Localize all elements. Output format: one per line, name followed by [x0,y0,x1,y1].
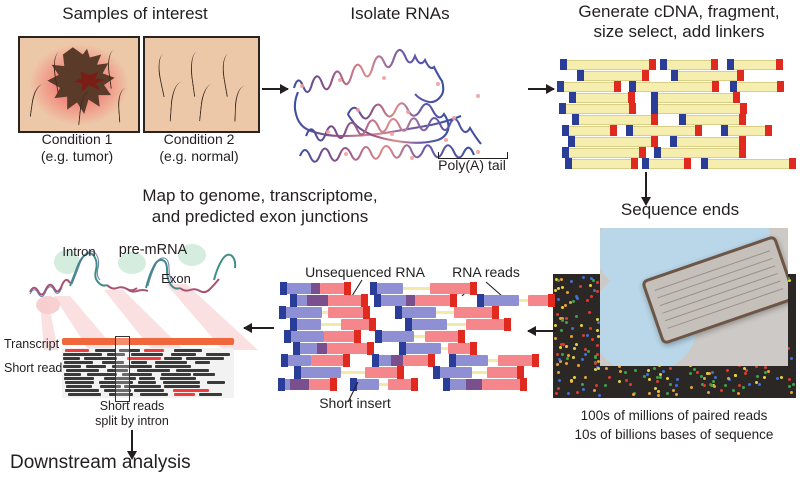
linker-left [568,136,575,147]
sequencing-cluster-dot [711,371,714,374]
reverse-read [430,283,475,294]
cdna-fragment [704,159,794,169]
linker-right [628,92,635,103]
arrow-cdna-to-sequence [645,172,647,198]
adapter-right [532,354,539,367]
sequencing-cluster-dot [565,317,568,320]
linker-left [679,114,686,125]
adapter-left [443,378,450,391]
read-overlap [406,295,415,306]
sequencing-cluster-dot [573,347,576,350]
flowcell-lane [660,265,776,306]
sequencing-cluster-dot [575,343,578,346]
sequencing-cluster-dot [604,384,607,387]
adapter-right [450,294,457,307]
adapter-left [281,354,288,367]
aligned-short-read [127,357,160,360]
cdna-fragment [565,148,643,158]
adapter-left [372,354,379,367]
paired-read [376,295,456,306]
linker-right [614,81,621,92]
adapter-left [279,306,286,319]
linker-right [789,158,796,169]
sequencing-cluster-dot [659,376,662,379]
linker-right [739,114,746,125]
cdna-fragment [629,126,699,136]
linker-left [557,81,564,92]
cdna-fragment [682,115,743,125]
sequencing-cluster-dot [596,290,599,293]
sequencing-cluster-dot [584,348,587,351]
short-insert-label: Short insert [300,396,410,412]
paired-read [397,307,497,318]
adapter-left [280,282,287,295]
sequencing-cluster-dot [662,370,665,373]
adapter-right [344,282,351,295]
adapter-left [375,330,382,343]
adapter-left [293,342,300,355]
sequencing-cluster-dot [573,376,576,379]
forward-read [451,355,488,366]
aligned-short-read [63,353,102,356]
linker-left [730,81,737,92]
sequencing-cluster-dot [690,386,693,389]
forward-read [377,331,414,342]
linker-left [569,92,576,103]
sequencing-cluster-dot [579,285,582,288]
sequencing-cluster-dot [560,329,563,332]
sequencing-cluster-dot [595,384,598,387]
read-overlap [391,355,404,366]
aligned-short-read [206,353,231,356]
sequencing-cluster-dot [756,375,759,378]
rna-strands [288,40,528,165]
sequencing-cluster-dot [575,295,578,298]
sequencing-cluster-dot [561,286,564,289]
cdna-fragment [663,60,715,70]
transcript-bar [62,338,234,345]
sequencing-cluster-dot [565,345,568,348]
aligned-short-read [161,373,190,376]
aligned-short-read [65,381,94,384]
linker-right [733,92,740,103]
paired-read [295,343,373,354]
paired-read [377,331,463,342]
sequencing-cluster-dot [703,384,706,387]
sequencing-cluster-dot [764,366,767,369]
split-reads-label-line2: split by intron [76,414,188,428]
sequencing-cluster-dot [560,278,563,281]
condition-2-name: Condition 2 [135,132,263,148]
linker-left [651,92,658,103]
linker-left [562,125,569,136]
sequencing-cluster-dot [672,389,675,392]
cdna-title-line2: size select, add linkers [560,22,798,41]
sequencing-cluster-dot [582,388,585,391]
sequencing-cluster-dot [591,338,594,341]
sequencing-cluster-dot [624,371,627,374]
linker-left [670,136,677,147]
linker-right [651,114,658,125]
adapter-left [278,378,285,391]
paired-read [374,355,433,366]
aligned-short-read [171,353,196,356]
paired-read [296,367,402,378]
cdna-fragment [654,93,737,103]
aligned-short-read [65,349,89,352]
sequencing-cluster-dot [689,372,692,375]
cdna-title-line1: Generate cDNA, fragment, [560,2,798,21]
sequencing-cluster-dot [582,276,585,279]
sequencing-cluster-dot [790,391,793,394]
adapter-right [343,354,350,367]
forward-read [397,307,436,318]
aligned-short-read [207,381,225,384]
paired-reads-pool [280,283,560,393]
sequencing-cluster-dot [580,324,583,327]
forward-read [401,343,441,354]
sequencing-cluster-dot [648,392,651,395]
cdna-fragment [571,137,655,147]
linker-right [629,103,636,114]
aligned-short-read [176,369,209,372]
sequencing-cluster-dot [581,358,584,361]
aligned-short-read [63,357,80,360]
forward-read [479,295,519,306]
linker-right [639,147,646,158]
sequencing-cluster-dot [587,350,590,353]
sequencing-cluster-dot [569,301,572,304]
linker-right [740,103,747,114]
linker-left [629,81,636,92]
sequencing-cluster-dot [737,392,740,395]
paired-read [281,307,368,318]
aligned-short-read [155,361,187,364]
linker-left [642,158,649,169]
linker-right [776,59,783,70]
paired-read [282,283,349,294]
aligned-short-read [144,349,165,352]
sequencing-cluster-dot [596,344,599,347]
aligned-short-read [174,393,196,396]
linker-left [671,70,678,81]
sequencing-cluster-dot [648,378,651,381]
pre-mrna-label: pre-mRNA [104,242,202,258]
condition-1-name: Condition 1 [13,132,141,148]
sequencing-cluster-dot [598,394,601,397]
cdna-fragment [563,60,654,70]
samples-title: Samples of interest [20,4,250,23]
linker-left [626,125,633,136]
aligned-short-read [65,389,99,392]
paired-read [401,343,475,354]
aligned-short-read [134,389,165,392]
sequencing-cluster-dot [632,393,635,396]
cdna-fragment [562,104,633,114]
aligned-short-read [173,389,209,392]
aligned-short-read [163,381,201,384]
adapter-left [405,318,412,331]
sequencing-cluster-dot [608,376,611,379]
cdna-fragment-pool [556,58,800,166]
linker-right [610,125,617,136]
aligned-short-read [138,381,156,384]
sequencing-cluster-dot [566,357,569,360]
sequencing-cluster-dot [571,327,574,330]
adapter-left [395,306,402,319]
sequencing-cluster-dot [588,311,591,314]
adapter-left [374,294,381,307]
sequencing-cluster-dot [790,357,793,360]
aligned-short-read [160,377,196,380]
sequencing-cluster-dot [572,300,575,303]
sequencing-cluster-dot [703,377,706,380]
short-reads-alignment [62,348,234,398]
sequencing-cluster-dot [618,380,621,383]
linker-right [711,59,718,70]
reverse-read [327,343,372,354]
sequencing-cluster-dot [780,376,783,379]
aligned-short-read [199,393,223,396]
sequencing-cluster-dot [653,367,656,370]
sequencing-cluster-dot [712,380,715,383]
reverse-read [466,319,509,330]
arrow-map-to-downstream [131,430,133,452]
linker-right [737,70,744,81]
sequencing-cluster-dot [696,371,699,374]
arrow-isolate-to-cdna [528,88,554,90]
linker-right [739,147,746,158]
cdna-fragment [733,82,780,92]
sequence-title: Sequence ends [565,200,795,219]
map-title-line1: Map to genome, transcriptome, [100,186,420,205]
sequencing-cluster-dot [734,374,737,377]
sequencing-cluster-dot [744,372,747,375]
adapter-right [470,342,477,355]
linker-left [654,147,661,158]
condition-1-detail: (e.g. tumor) [13,149,141,165]
sequencing-cluster-dot [669,383,672,386]
adapter-left [290,294,297,307]
aligned-short-read [131,361,147,364]
sequencing-cluster-dot [776,377,779,380]
sequencing-cluster-dot [706,372,709,375]
sequencing-cluster-dot [566,291,569,294]
sequencing-cluster-dot [676,378,679,381]
aligned-short-read [86,365,106,368]
read-overlap [317,343,327,354]
sequencing-cluster-dot [577,364,580,367]
sequencing-cluster-dot [656,376,659,379]
aligned-short-read [164,357,183,360]
sequencing-cluster-dot [576,391,579,394]
reverse-read [454,307,497,318]
sequencing-cluster-dot [570,280,573,283]
aligned-short-read [64,373,82,376]
adapter-left [294,366,301,379]
sequencing-cluster-dot [675,384,678,387]
sequencing-cluster-dot [629,383,632,386]
linker-left [727,59,734,70]
sequencing-cluster-dot [625,379,628,382]
sequencing-cluster-dot [575,315,578,318]
cdna-fragment [572,93,632,103]
cdna-fragment [560,82,618,92]
forward-read [286,331,324,342]
adapter-right [411,378,418,391]
isolate-title: Isolate RNAs [310,4,490,23]
adapter-left [399,342,406,355]
sequencing-cluster-dot [586,334,589,337]
linker-right [642,70,649,81]
aligned-short-read [131,353,162,356]
aligned-short-read [87,373,117,376]
sequencing-cluster-dot [634,369,637,372]
aligned-short-read [68,393,101,396]
aligned-short-read [186,357,224,360]
sequencing-cluster-dot [581,383,584,386]
aligned-short-read [66,369,100,372]
flowcell-photo [600,228,788,366]
linker-right [765,125,772,136]
linker-left [701,158,708,169]
rnaseq-workflow-figure: Samples of interest Condition 1 (e.g. tu… [0,0,800,478]
aligned-short-read [164,385,200,388]
sequencing-cluster-dot [561,353,564,356]
sequencing-cluster-dot [724,384,727,387]
sequencing-cluster-dot [748,383,751,386]
sequencing-cluster-dot [788,385,791,388]
sequencing-cluster-dot [619,370,622,373]
forward-read [407,319,447,330]
cdna-fragment [724,126,769,136]
read-overlap [290,379,309,390]
sequencing-cluster-dot [792,383,795,386]
split-read-highlight-box [115,336,130,402]
adapter-right [504,318,511,331]
sequencing-cluster-dot [758,383,761,386]
sequencing-cluster-dot [570,335,573,338]
reverse-read [482,379,525,390]
aligned-short-read [63,365,81,368]
map-title-line2: and predicted exon junctions [100,207,420,226]
sequencing-cluster-dot [582,334,585,337]
adapter-right [492,306,499,319]
paired-read [283,355,348,366]
aligned-short-read [95,349,116,352]
paired-read [407,319,510,330]
tissue-panel-condition-1 [18,36,140,133]
paired-read [286,331,360,342]
adapter-left [433,366,440,379]
cdna-fragment [568,159,635,169]
linker-right [739,136,746,147]
linker-left [660,59,667,70]
linker-left [562,147,569,158]
flowcell-lane [667,288,783,329]
polya-tail-label: Poly(A) tail [422,158,522,174]
aligned-short-read [195,361,210,364]
skin-background [145,38,258,131]
sequencing-cluster-dot [657,394,660,397]
read-overlap [307,295,328,306]
adapter-left [477,294,484,307]
adapter-right [548,294,555,307]
cdna-fragment [657,148,743,158]
adapter-left [284,330,291,343]
sequencing-cluster-dot [584,353,587,356]
adapter-right [397,366,404,379]
sequencing-cluster-dot [714,376,717,379]
aligned-short-read [64,377,94,380]
aligned-short-read [155,365,191,368]
sequencing-cluster-dot [742,386,745,389]
sequencing-cluster-dot [666,377,669,380]
paired-read [292,319,374,330]
linker-left [572,114,579,125]
cdna-fragment [645,159,688,169]
sequencing-cluster-dot [564,304,567,307]
cdna-fragment [580,71,646,81]
sequencing-cluster-dot [657,390,660,393]
aligned-short-read [193,373,215,376]
linker-right [651,136,658,147]
sequencing-cluster-dot [693,368,696,371]
sequencing-cluster-dot [666,392,669,395]
linker-right [777,81,784,92]
cdna-fragment [565,126,614,136]
linker-left [651,103,658,114]
flowcell-lane [665,280,781,321]
sequencing-cluster-dot [720,389,723,392]
cdna-fragment [673,137,743,147]
sequencing-cluster-dot [592,279,595,282]
paired-read [451,355,538,366]
sequencing-cluster-dot [596,353,599,356]
sequencing-cluster-dot [589,327,592,330]
sequencing-cluster-dot [646,373,649,376]
reverse-read [328,307,368,318]
paired-read [292,295,366,306]
tissue-panel-condition-2 [143,36,260,133]
sequencing-cluster-dot [763,376,766,379]
sequencing-cluster-dot [767,370,770,373]
sequencing-cluster-dot [561,319,564,322]
linker-left [565,158,572,169]
sequencing-cluster-dot [593,389,596,392]
split-reads-label-line1: Short reads [76,399,188,413]
aligned-short-read [137,369,171,372]
sequencing-cluster-dot [732,389,735,392]
paired-read [445,379,525,390]
sequencing-cluster-dot [738,384,741,387]
cdna-fragment [674,71,741,81]
aligned-short-read [64,361,93,364]
aligned-short-read [140,393,168,396]
linker-left [721,125,728,136]
sequencing-cluster-dot [597,367,600,370]
forward-read [281,307,322,318]
linker-left [577,70,584,81]
arrow-samples-to-isolate [262,88,288,90]
downstream-analysis-title: Downstream analysis [10,452,260,473]
sequencing-cluster-dot [647,369,650,372]
sequencing-cluster-dot [707,391,710,394]
paired-read [435,367,522,378]
linker-right [712,81,719,92]
adapter-right [520,378,527,391]
adapter-left [449,354,456,367]
